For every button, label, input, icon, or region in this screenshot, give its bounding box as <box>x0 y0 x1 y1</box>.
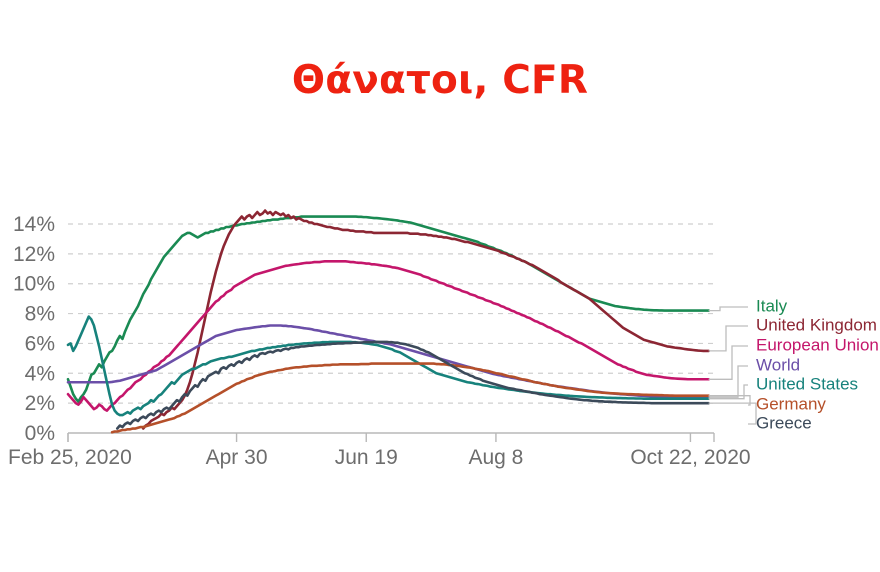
legend-item-world[interactable]: World <box>756 355 800 374</box>
legend[interactable]: ItalyUnited KingdomEuropean UnionWorldUn… <box>756 296 879 432</box>
series-line-united-kingdom <box>143 211 708 429</box>
y-axis-tick-label: 6% <box>25 332 55 355</box>
legend-item-european-union[interactable]: European Union <box>756 335 879 354</box>
legend-leader-lines <box>709 307 756 424</box>
x-axis-tick-label: Oct 22, 2020 <box>630 446 750 469</box>
x-axis-tick-labels: Feb 25, 2020Apr 30Jun 19Aug 8Oct 22, 202… <box>8 446 751 469</box>
legend-item-germany[interactable]: Germany <box>756 394 826 413</box>
legend-leader-line <box>709 307 748 311</box>
y-axis-tick-label: 12% <box>13 243 55 266</box>
y-axis-tick-label: 14% <box>13 213 55 236</box>
chart-container: Θάνατοι, CFR 0%2%4%6%8%10%12%14% Feb 25,… <box>0 0 880 572</box>
legend-leader-line <box>709 366 748 397</box>
y-axis-tick-label: 10% <box>13 273 55 296</box>
legend-leader-line <box>709 326 748 351</box>
x-axis-tick-label: Jun 19 <box>335 446 398 469</box>
legend-leader-line <box>709 403 756 424</box>
y-axis-tick-label: 4% <box>25 362 55 385</box>
y-axis-tick-label: 8% <box>25 303 55 326</box>
x-axis-tick-label: Feb 25, 2020 <box>8 446 132 469</box>
y-axis-tick-label: 0% <box>25 422 55 445</box>
legend-item-greece[interactable]: Greece <box>756 413 812 432</box>
x-axis-tick-label: Aug 8 <box>468 446 523 469</box>
line-chart-plot: 0%2%4%6%8%10%12%14% Feb 25, 2020Apr 30Ju… <box>0 0 880 572</box>
legend-item-united-kingdom[interactable]: United Kingdom <box>756 315 877 334</box>
gridlines-group <box>68 224 714 403</box>
series-group <box>68 211 709 433</box>
axes-group <box>68 433 714 442</box>
x-axis-tick-label: Apr 30 <box>206 446 268 469</box>
series-line-greece <box>117 342 708 429</box>
legend-item-italy[interactable]: Italy <box>756 296 788 315</box>
y-axis-tick-label: 2% <box>25 392 55 415</box>
legend-item-united-states[interactable]: United States <box>756 374 858 393</box>
y-axis-tick-labels: 0%2%4%6%8%10%12%14% <box>13 213 55 445</box>
